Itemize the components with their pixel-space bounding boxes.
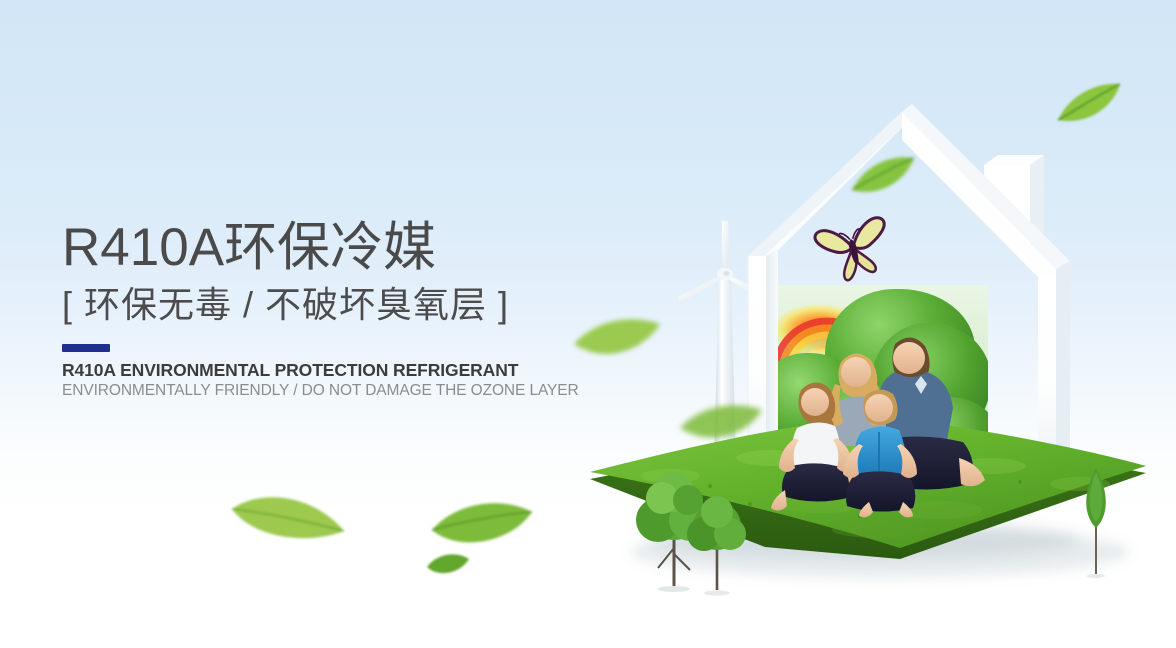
leaf-bottom-left-icon: [228, 483, 348, 549]
leaf-roof-icon: [848, 150, 918, 206]
english-secondary-line: ENVIRONMENTALLY FRIENDLY / DO NOT DAMAGE…: [62, 381, 622, 400]
illustration-scene: [560, 0, 1176, 648]
butterfly-icon: [810, 208, 896, 288]
leaf-bottom-small-icon: [425, 549, 471, 579]
leaf-inner-blur-icon: [678, 398, 764, 450]
accent-bar: [62, 344, 110, 352]
tree-broadleaf-small: [682, 486, 752, 596]
headline-text-block: R410A环保冷媒 [ 环保无毒 / 不破坏臭氧层 ] R410A ENVIRO…: [62, 218, 622, 400]
leaf-top-right-icon: [1050, 76, 1126, 134]
leaf-bottom-center-icon: [430, 496, 534, 554]
promo-banner: R410A环保冷媒 [ 环保无毒 / 不破坏臭氧层 ] R410A ENVIRO…: [0, 0, 1176, 648]
english-primary-line: R410A ENVIRONMENTAL PROTECTION REFRIGERA…: [62, 360, 622, 380]
family-sitting-on-grass: [745, 318, 1045, 518]
page-subtitle: [ 环保无毒 / 不破坏臭氧层 ]: [62, 282, 622, 328]
page-title: R410A环保冷媒: [62, 218, 622, 278]
tree-cypress: [1076, 462, 1116, 582]
